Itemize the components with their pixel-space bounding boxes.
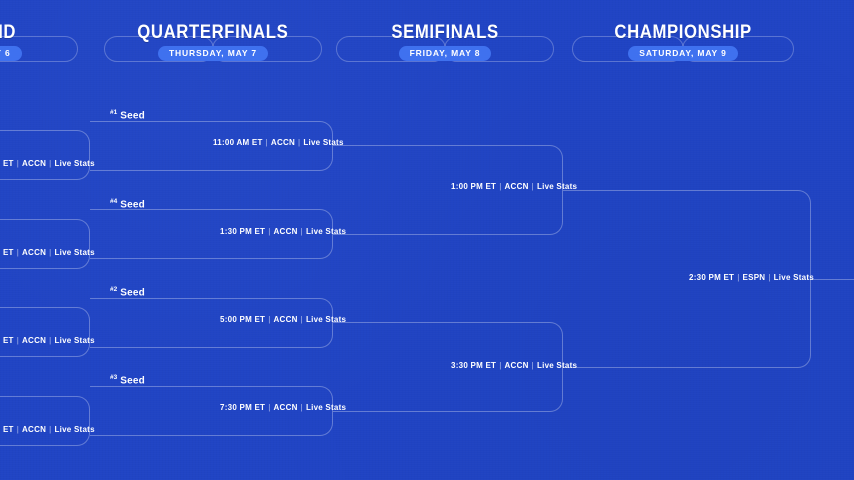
separator: | xyxy=(734,273,742,282)
game-network: ACCN xyxy=(22,248,46,257)
semifinal-game-1-info[interactable]: 1:00 PM ET|ACCN|Live Stats xyxy=(451,182,577,191)
game-live-stats-link[interactable]: Live Stats xyxy=(54,159,94,168)
game-live-stats-link[interactable]: Live Stats xyxy=(54,425,94,434)
seed-text: Seed xyxy=(120,287,145,298)
round-title-quarterfinals: QUARTERFINALS xyxy=(137,22,288,43)
game-network: ACCN xyxy=(274,403,298,412)
game-time: PM ET xyxy=(0,159,14,168)
semifinal-game-2-info[interactable]: 3:30 PM ET|ACCN|Live Stats xyxy=(451,361,577,370)
game-network: ACCN xyxy=(274,315,298,324)
game-time: PM ET xyxy=(0,336,14,345)
game-network: ACCN xyxy=(271,138,295,147)
round-date-quarterfinals: THURSDAY, MAY 7 xyxy=(158,46,268,61)
separator: | xyxy=(14,248,22,257)
championship-game-info[interactable]: 2:30 PM ET|ESPN|Live Stats xyxy=(689,273,814,282)
game-live-stats-link[interactable]: Live Stats xyxy=(774,273,814,282)
game-time: 2:30 PM ET xyxy=(689,273,734,282)
separator: | xyxy=(298,227,306,236)
round-date-championship: SATURDAY, MAY 9 xyxy=(628,46,737,61)
separator: | xyxy=(298,403,306,412)
game-time: 1:30 PM ET xyxy=(220,227,265,236)
game-network: ACCN xyxy=(274,227,298,236)
round-header-semifinals: SEMIFINALS FRIDAY, MAY 8 xyxy=(336,22,554,74)
quarterfinal-game-1-info[interactable]: 11:00 AM ET|ACCN|Live Stats xyxy=(213,138,344,147)
game-live-stats-link[interactable]: Live Stats xyxy=(54,336,94,345)
round-title-championship: CHAMPIONSHIP xyxy=(614,22,751,43)
round-header-championship: CHAMPIONSHIP SATURDAY, MAY 9 xyxy=(572,22,794,74)
quarterfinal-game-4-info[interactable]: 7:30 PM ET|ACCN|Live Stats xyxy=(220,403,346,412)
game-time: PM ET xyxy=(0,425,14,434)
separator: | xyxy=(496,182,504,191)
game-network: ACCN xyxy=(505,182,529,191)
championship-connector xyxy=(811,279,854,280)
seed-rank: #1 xyxy=(110,109,117,116)
round-title-first-round: ND xyxy=(0,22,16,43)
seed-rank: #4 xyxy=(110,198,117,205)
seed-text: Seed xyxy=(120,110,145,121)
separator: | xyxy=(14,425,22,434)
seed-label-2: #2 Seed xyxy=(110,284,145,298)
quarterfinal-game-3-info[interactable]: 5:00 PM ET|ACCN|Live Stats xyxy=(220,315,346,324)
game-time: 11:00 AM ET xyxy=(213,138,263,147)
first-round-game-2-info[interactable]: PM ET|ACCN|Live Stats xyxy=(0,248,95,257)
seed-rank: #2 xyxy=(110,286,117,293)
separator: | xyxy=(263,138,271,147)
game-network: ACCN xyxy=(22,425,46,434)
game-network: ACCN xyxy=(22,336,46,345)
first-round-game-1-info[interactable]: PM ET|ACCN|Live Stats xyxy=(0,159,95,168)
game-time: 3:30 PM ET xyxy=(451,361,496,370)
game-time: PM ET xyxy=(0,248,14,257)
first-round-game-1[interactable] xyxy=(0,130,90,180)
round-header-first-round: ND Y 6 xyxy=(0,22,38,74)
round-date-first-round: Y 6 xyxy=(0,46,22,61)
separator: | xyxy=(265,315,273,324)
seed-label-1: #1 Seed xyxy=(110,107,145,121)
first-round-game-2[interactable] xyxy=(0,219,90,269)
game-time: 1:00 PM ET xyxy=(451,182,496,191)
separator: | xyxy=(298,315,306,324)
separator: | xyxy=(529,182,537,191)
first-round-game-4-info[interactable]: PM ET|ACCN|Live Stats xyxy=(0,425,95,434)
separator: | xyxy=(529,361,537,370)
tournament-bracket: ND Y 6 QUARTERFINALS THURSDAY, MAY 7 SEM… xyxy=(0,0,854,480)
seed-rank: #3 xyxy=(110,374,117,381)
separator: | xyxy=(14,336,22,345)
first-round-game-4[interactable] xyxy=(0,396,90,446)
seed-label-3: #3 Seed xyxy=(110,372,145,386)
game-time: 5:00 PM ET xyxy=(220,315,265,324)
round-date-semifinals: FRIDAY, MAY 8 xyxy=(399,46,492,61)
separator: | xyxy=(765,273,773,282)
seed-text: Seed xyxy=(120,375,145,386)
round-header-quarterfinals: QUARTERFINALS THURSDAY, MAY 7 xyxy=(104,22,322,74)
game-live-stats-link[interactable]: Live Stats xyxy=(54,248,94,257)
separator: | xyxy=(265,403,273,412)
quarterfinal-game-2-info[interactable]: 1:30 PM ET|ACCN|Live Stats xyxy=(220,227,346,236)
separator: | xyxy=(14,159,22,168)
first-round-game-3-info[interactable]: PM ET|ACCN|Live Stats xyxy=(0,336,95,345)
game-time: 7:30 PM ET xyxy=(220,403,265,412)
separator: | xyxy=(496,361,504,370)
separator: | xyxy=(265,227,273,236)
first-round-game-3[interactable] xyxy=(0,307,90,357)
round-title-semifinals: SEMIFINALS xyxy=(391,22,498,43)
game-network: ACCN xyxy=(505,361,529,370)
game-network: ACCN xyxy=(22,159,46,168)
game-network: ESPN xyxy=(743,273,766,282)
